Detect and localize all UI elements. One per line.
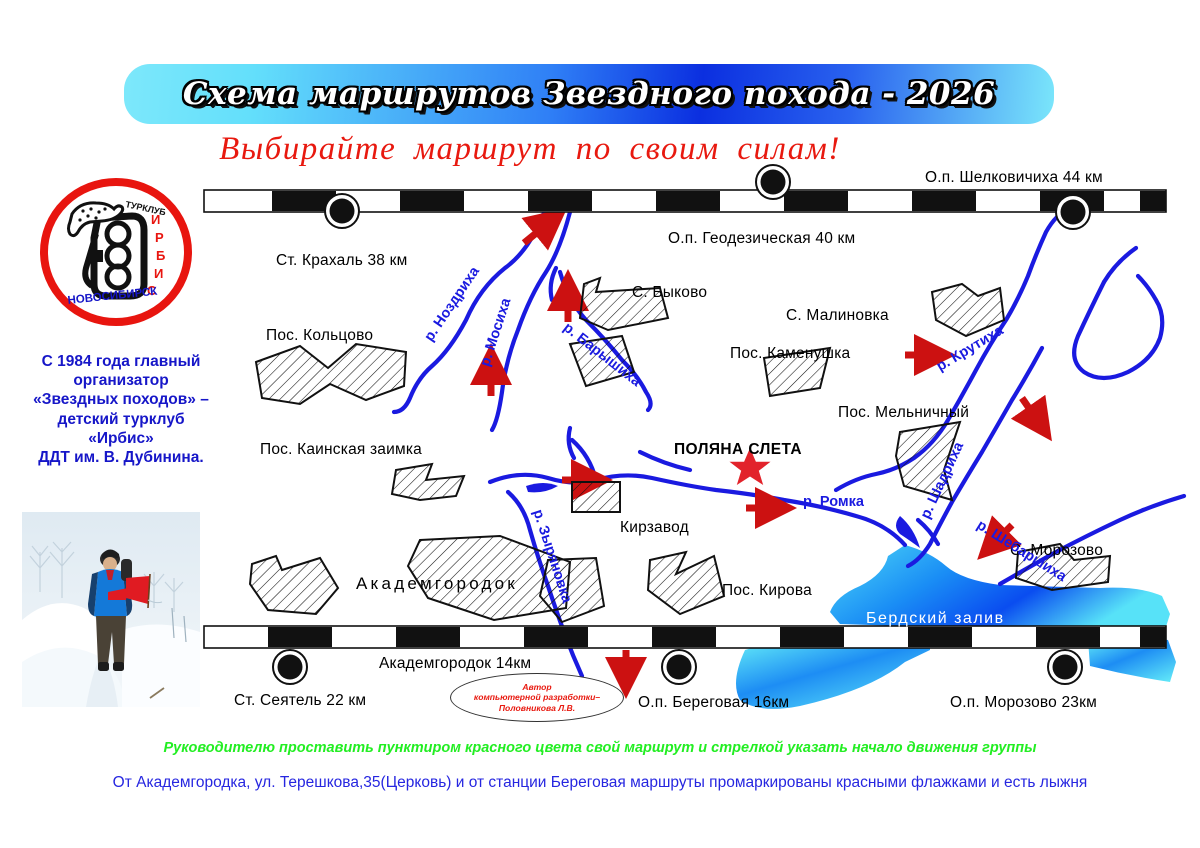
label-settlement-kainskaya-zaimka: Пос. Каинская заимка: [260, 441, 422, 459]
label-station-geodezicheskaya: О.п. Геодезическая 40 км: [668, 230, 855, 248]
station-marker-beregovaya: [667, 655, 692, 680]
label-berdsky-bay: Бердский залив: [866, 610, 1005, 628]
map-graphics: [0, 0, 1200, 848]
station-marker-seyatel: [278, 655, 303, 680]
poster-root: Схема маршрутов Звездного похода - 2026 …: [0, 0, 1200, 848]
shape-kirzavod: [572, 482, 620, 512]
label-station-krakhal: Ст. Крахаль 38 км: [276, 252, 407, 270]
label-station-shelkovichikha: О.п. Шелковичиха 44 км: [925, 169, 1103, 187]
author-credit-line-3: Половникова Л.В.: [499, 703, 575, 713]
author-credit-line-1: Автор: [522, 682, 551, 692]
label-settlement-malinovka: С. Малиновка: [786, 307, 889, 325]
label-river-romka: р. Ромка: [803, 494, 864, 510]
label-settlement-kirzavod: Кирзавод: [620, 519, 689, 537]
station-marker-morozovo: [1053, 655, 1078, 680]
station-marker-krakhal: [330, 199, 355, 224]
label-station-seyatel: Ст. Сеятель 22 км: [234, 692, 366, 710]
flow-arrow-shadrikha: [1022, 398, 1040, 424]
label-settlement-bykovo: С. Быково: [632, 284, 707, 302]
shape-koltsovo: [256, 344, 406, 404]
author-credit-line-2: компьютерной разработки–: [474, 692, 600, 702]
railway-bottom[interactable]: [204, 626, 1166, 648]
author-credit-badge: Автор компьютерной разработки– Половнико…: [450, 673, 624, 722]
label-settlement-koltsovo: Пос. Кольцово: [266, 327, 373, 345]
label-settlement-kamenushka: Пос. Каменушка: [730, 345, 850, 363]
label-meeting-point: ПОЛЯНА СЛЕТА: [674, 441, 802, 459]
river-widening: [526, 483, 558, 492]
station-marker-shelkovichikha: [1061, 200, 1086, 225]
shape-kainskaya: [392, 464, 464, 500]
map-canvas: [0, 0, 1200, 848]
label-station-morozovo: О.п. Морозово 23км: [950, 694, 1097, 712]
note-blue: От Академгородка, ул. Терешкова,35(Церко…: [0, 774, 1200, 792]
label-akademgorodok: Академгородок: [356, 574, 518, 594]
note-green: Руководителю проставить пунктиром красно…: [0, 740, 1200, 756]
shape-akadem-west: [250, 556, 338, 614]
label-station-beregovaya: О.п. Береговая 16км: [638, 694, 789, 712]
label-settlement-melnichny: Пос. Мельничный: [838, 404, 969, 422]
label-station-akademgorodok: Академгородок 14км: [379, 655, 531, 673]
shape-kirova: [648, 552, 724, 614]
station-marker-geodezicheskaya: [761, 170, 786, 195]
label-settlement-kirova: Пос. Кирова: [722, 582, 812, 600]
